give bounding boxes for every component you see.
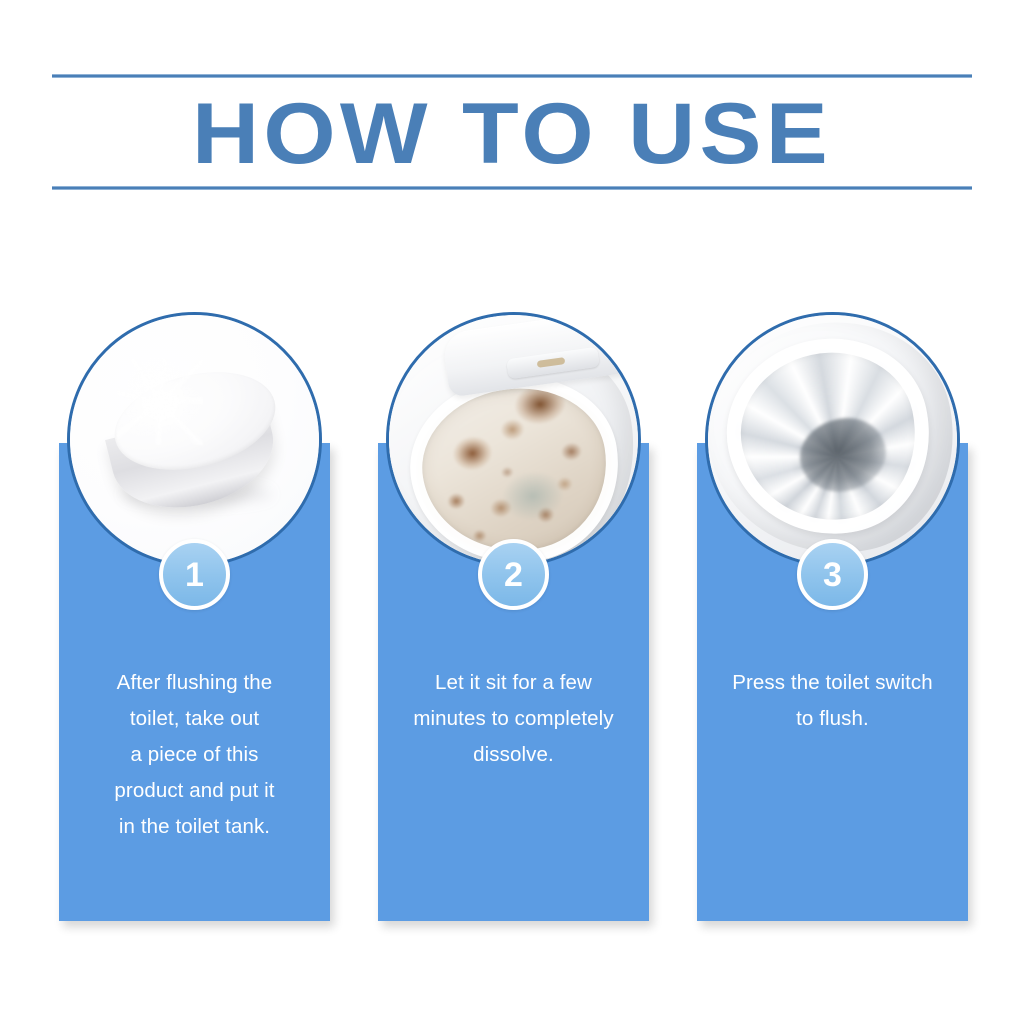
step-text-1: After flushing the toilet, take out a pi…: [65, 665, 324, 845]
step-text-2: Let it sit for a few minutes to complete…: [384, 665, 643, 773]
step-image-2: [386, 312, 641, 567]
step-badge-2: 2: [478, 539, 549, 610]
step-image-1: [67, 312, 322, 567]
infographic-page: HOW TO USE 1 After flushing the toilet, …: [0, 0, 1024, 1024]
steps-container: 1 After flushing the toilet, take out a …: [0, 0, 1024, 1024]
sparkle-icon: [117, 359, 203, 445]
step-card-2: 2 Let it sit for a few minutes to comple…: [378, 443, 649, 921]
white-tablet-photo: [70, 315, 319, 564]
step-text-3: Press the toilet switch to flush.: [703, 665, 962, 737]
step-image-3: [705, 312, 960, 567]
step-badge-3: 3: [797, 539, 868, 610]
tablet-scene: [70, 315, 319, 564]
step-badge-1: 1: [159, 539, 230, 610]
flushing-bowl-scene: [708, 315, 957, 564]
step-card-1: 1 After flushing the toilet, take out a …: [59, 443, 330, 921]
step-card-3: 3 Press the toilet switch to flush.: [697, 443, 968, 921]
stained-toilet-bowl-photo: [389, 315, 638, 564]
dirty-bowl-scene: [389, 315, 638, 564]
flushing-toilet-bowl-photo: [708, 315, 957, 564]
